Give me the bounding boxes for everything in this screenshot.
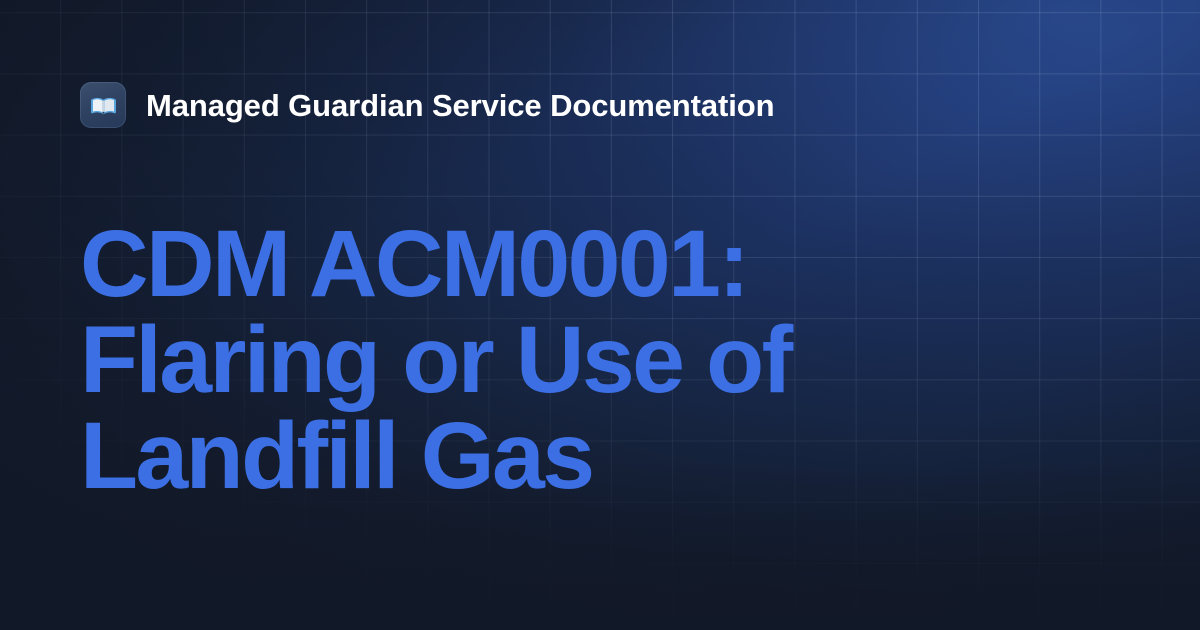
brand-header: Managed Guardian Service Documentation <box>80 82 1120 128</box>
page-title: CDM ACM0001: Flaring or Use of Landfill … <box>80 216 840 504</box>
brand-title: Managed Guardian Service Documentation <box>146 90 774 121</box>
open-book-icon <box>80 82 126 128</box>
card-content: Managed Guardian Service Documentation C… <box>0 0 1200 630</box>
content-spacer <box>80 504 1120 630</box>
og-card: Managed Guardian Service Documentation C… <box>0 0 1200 630</box>
